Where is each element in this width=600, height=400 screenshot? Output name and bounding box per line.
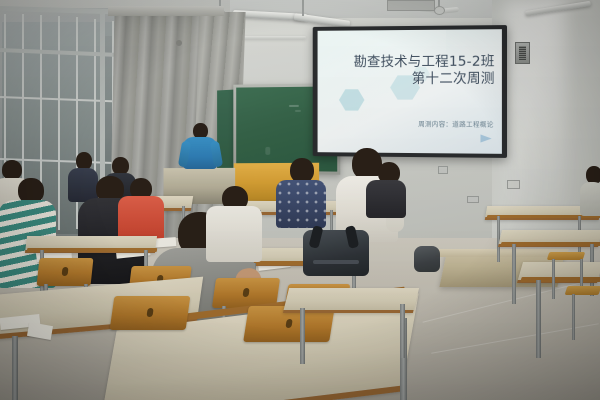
slide-title-line-1: 勘查技术与工程15-2班 (354, 54, 495, 72)
projection-screen-frame: 勘查技术与工程15-2班 第十二次周测 周测内容：道路工程概论 (313, 25, 507, 158)
backpack-secondary (414, 246, 440, 272)
classroom-photo: 勘查技术与工程15-2班 第十二次周测 周测内容：道路工程概论 (0, 0, 600, 400)
slide-subtitle: 周测内容：道路工程概论 (418, 118, 494, 128)
projection-screen[interactable]: 勘查技术与工程15-2班 第十二次周测 周测内容：道路工程概论 (318, 29, 502, 154)
wall-notice (507, 180, 520, 189)
screen-glare (318, 29, 446, 154)
curtain-hook (176, 40, 182, 46)
slide-title: 勘查技术与工程15-2班 第十二次周测 (354, 54, 495, 88)
wall-outlet-2 (438, 166, 448, 174)
light-conduit (302, 0, 304, 16)
play-arrow-icon[interactable] (480, 134, 491, 142)
wall-speaker (515, 42, 530, 64)
curtain-rail (108, 6, 224, 16)
black-backpack-main (303, 230, 369, 276)
wall-switch[interactable] (467, 196, 479, 203)
slide-title-line-2: 第十二次周测 (354, 71, 495, 88)
speaker-grille-icon (519, 46, 526, 60)
student-9-navy-shirt (276, 180, 326, 228)
right-wall-light-glow (505, 0, 565, 210)
ceiling-vent (387, 0, 435, 11)
